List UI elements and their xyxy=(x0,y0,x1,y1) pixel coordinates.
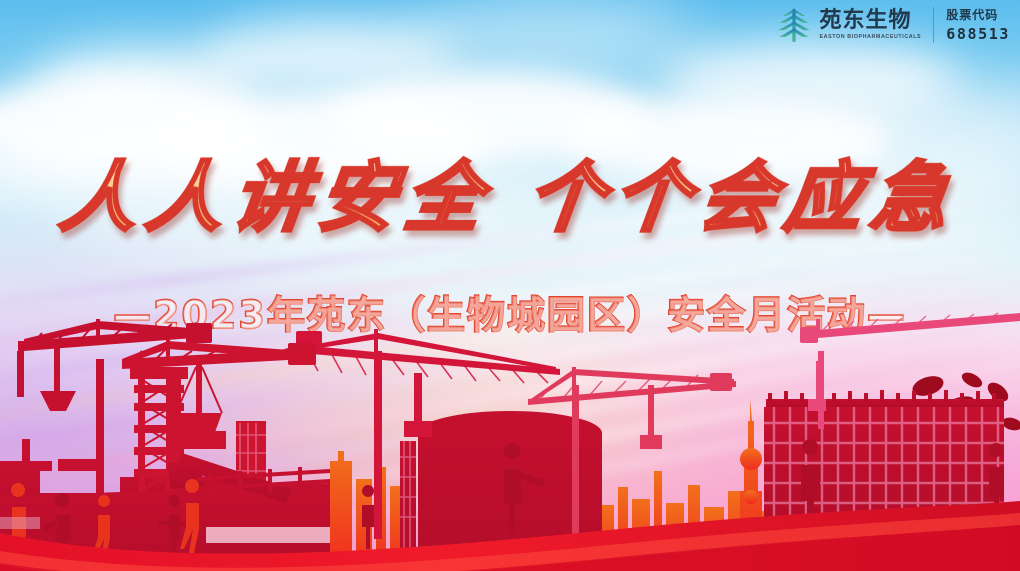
logo-divider xyxy=(933,7,934,43)
stock-code-label: 股票代码 xyxy=(946,6,1010,23)
foreground-silhouette-scene xyxy=(0,311,1020,571)
poster-canvas: 苑东生物 EASTON BIOPHARMACEUTICALS 股票代码 6885… xyxy=(0,0,1020,571)
brand-logo-block[interactable]: 苑东生物 EASTON BIOPHARMACEUTICALS 股票代码 6885… xyxy=(777,6,1011,43)
deck-panel-highlight xyxy=(206,527,330,543)
company-name-en: EASTON BIOPHARMACEUTICALS xyxy=(820,34,922,40)
stock-code-value: 688513 xyxy=(946,25,1010,43)
easton-pine-tree-logo-icon xyxy=(777,7,811,43)
brand-wordmark: 苑东生物 EASTON BIOPHARMACEUTICALS xyxy=(820,9,922,41)
stock-code-block: 股票代码 688513 xyxy=(946,6,1010,43)
company-name-cn: 苑东生物 xyxy=(820,9,922,32)
